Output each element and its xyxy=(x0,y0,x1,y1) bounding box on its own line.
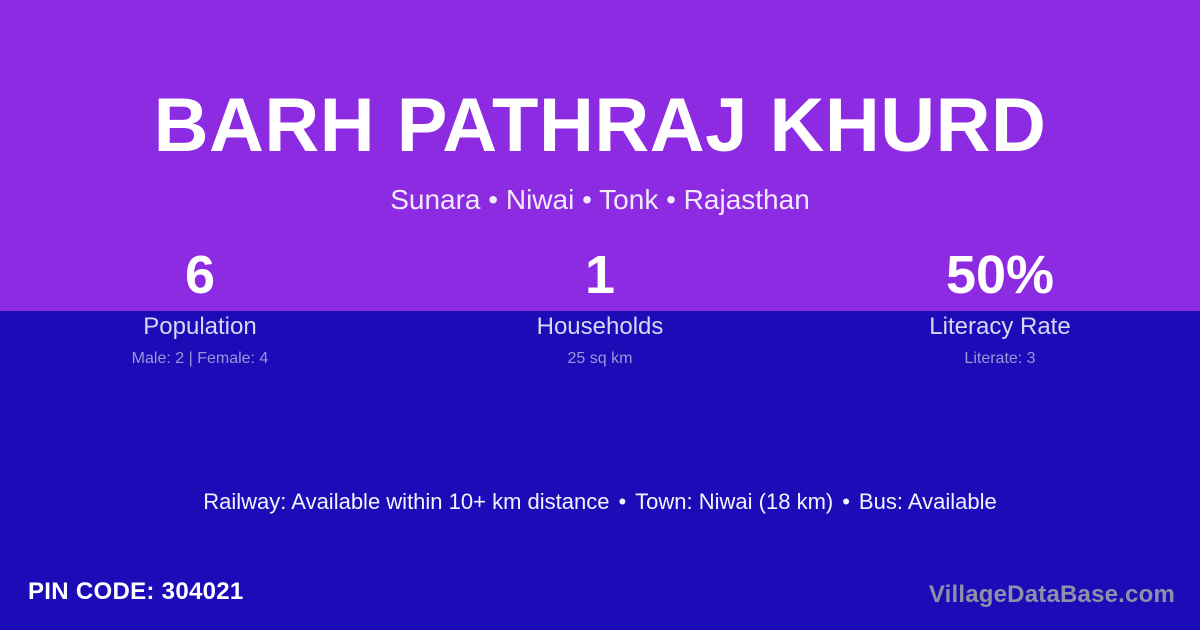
amenity-separator: • xyxy=(609,487,635,517)
amenity-railway: Railway: Available within 10+ km distanc… xyxy=(203,489,609,514)
village-info-card: BARH PATHRAJ KHURD Sunara • Niwai • Tonk… xyxy=(0,0,1200,630)
stat-value-households: 1 xyxy=(400,246,800,304)
site-brand: VillageDataBase.com xyxy=(929,580,1175,610)
stat-label-households: Households xyxy=(400,313,800,341)
amenities-line: Railway: Available within 10+ km distanc… xyxy=(0,487,1200,517)
stat-label-literacy-rate: Literacy Rate xyxy=(800,313,1200,341)
breadcrumb: Sunara • Niwai • Tonk • Rajasthan xyxy=(0,183,1200,217)
amenity-town: Town: Niwai (18 km) xyxy=(635,489,833,514)
amenity-bus: Bus: Available xyxy=(859,489,997,514)
stat-literacy-rate: 50% Literacy Rate Literate: 3 xyxy=(800,246,1200,386)
stat-households: 1 Households 25 sq km xyxy=(400,246,800,386)
stats-row: 6 Population Male: 2 | Female: 4 1 House… xyxy=(0,246,1200,386)
stat-value-literacy-rate: 50% xyxy=(800,246,1200,304)
stat-label-population: Population xyxy=(0,313,400,341)
page-title: BARH PATHRAJ KHURD xyxy=(0,84,1200,168)
stat-value-population: 6 xyxy=(0,246,400,304)
stat-population: 6 Population Male: 2 | Female: 4 xyxy=(0,246,400,386)
stat-sub-population: Male: 2 | Female: 4 xyxy=(0,349,400,369)
amenity-separator: • xyxy=(833,487,859,517)
pin-code: PIN CODE: 304021 xyxy=(28,577,244,607)
stat-sub-literacy-rate: Literate: 3 xyxy=(800,349,1200,369)
stat-sub-households: 25 sq km xyxy=(400,349,800,369)
